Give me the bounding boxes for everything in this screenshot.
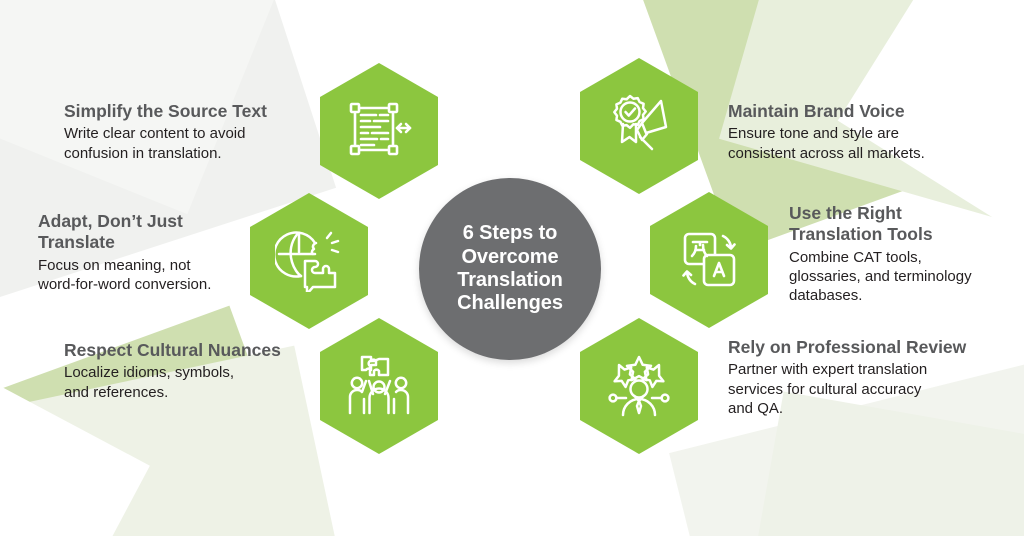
step-body-respect-cultural-nuances: Localize idioms, symbols, and references… xyxy=(64,363,316,401)
step-heading-respect-cultural-nuances: Respect Cultural Nuances xyxy=(64,340,316,361)
center-title-text: 6 Steps to Overcome Translation Challeng… xyxy=(419,222,601,316)
step-body-maintain-brand-voice: Ensure tone and style are consistent acr… xyxy=(728,124,990,162)
person-stars-review-icon xyxy=(605,355,673,417)
text-block-maintain-brand-voice: Maintain Brand Voice Ensure tone and sty… xyxy=(728,101,990,163)
step-heading-simplify-source-text: Simplify the Source Text xyxy=(64,101,314,122)
infographic-canvas: 6 Steps to Overcome Translation Challeng… xyxy=(0,0,1024,536)
step-heading-adapt-dont-just-translate: Adapt, Don’t Just Translate xyxy=(38,211,248,254)
people-puzzle-icon xyxy=(346,355,412,417)
center-title-circle: 6 Steps to Overcome Translation Challeng… xyxy=(419,178,601,360)
text-block-rely-on-professional-review: Rely on Professional Review Partner with… xyxy=(728,337,998,418)
globe-speech-puzzle-icon xyxy=(275,230,343,292)
text-block-adapt-dont-just-translate: Adapt, Don’t Just Translate Focus on mea… xyxy=(38,211,248,294)
step-heading-use-right-translation-tools: Use the Right Translation Tools xyxy=(789,203,1004,246)
step-heading-rely-on-professional-review: Rely on Professional Review xyxy=(728,337,998,358)
text-block-simplify-source-text: Simplify the Source Text Write clear con… xyxy=(64,101,314,163)
step-heading-maintain-brand-voice: Maintain Brand Voice xyxy=(728,101,990,122)
text-block-respect-cultural-nuances: Respect Cultural Nuances Localize idioms… xyxy=(64,340,316,402)
step-body-adapt-dont-just-translate: Focus on meaning, not word-for-word conv… xyxy=(38,256,248,294)
step-body-simplify-source-text: Write clear content to avoid confusion i… xyxy=(64,124,314,162)
document-resize-icon xyxy=(346,101,412,161)
language-translate-icon xyxy=(677,228,741,292)
step-body-rely-on-professional-review: Partner with expert translation services… xyxy=(728,360,998,418)
text-block-use-right-translation-tools: Use the Right Translation Tools Combine … xyxy=(789,203,1004,305)
badge-megaphone-icon xyxy=(606,93,672,159)
step-body-use-right-translation-tools: Combine CAT tools, glossaries, and termi… xyxy=(789,248,1004,306)
